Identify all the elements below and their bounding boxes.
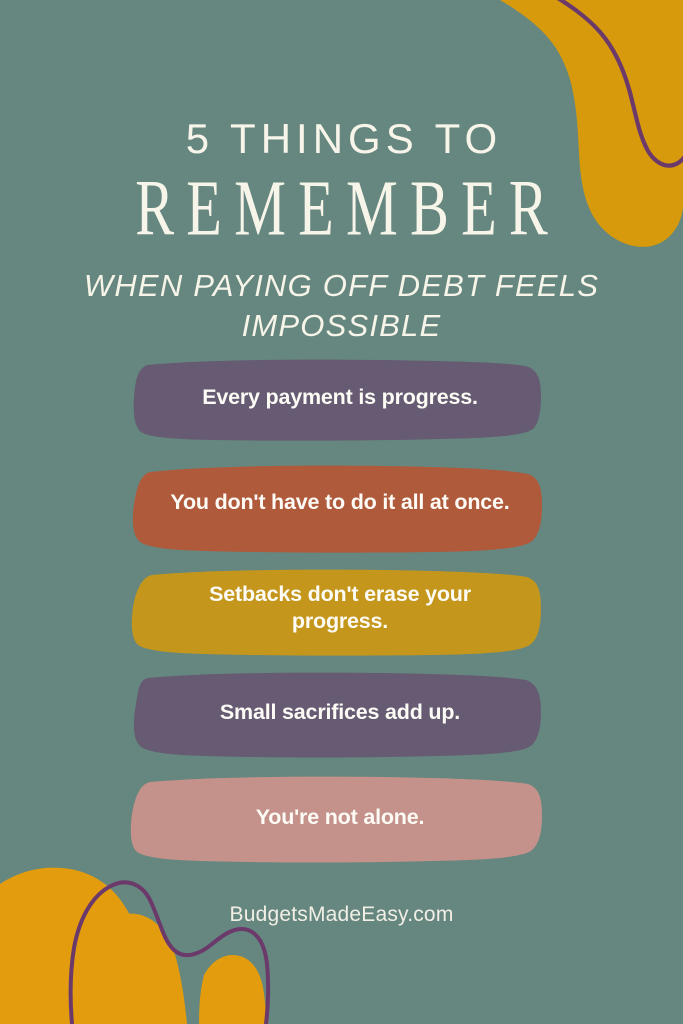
gold-blob-bottom-left-small-shape — [199, 955, 266, 1024]
list-item-label: You're not alone. — [160, 776, 520, 859]
list-item[interactable]: You're not alone. — [0, 776, 683, 881]
headline-bigword: Remember — [20, 169, 662, 248]
gold-blob-bottom-left-shape — [0, 868, 162, 1024]
list-item[interactable]: Small sacrifices add up. — [0, 671, 683, 776]
subheadline-text: When paying off debt feels impossible — [37, 266, 647, 347]
list-item[interactable]: Every payment is progress. — [0, 356, 683, 461]
list-item[interactable]: You don't have to do it all at once. — [0, 461, 683, 566]
list-item-label: Every payment is progress. — [160, 356, 520, 439]
poster-canvas: 5 Things To Remember When paying off deb… — [0, 0, 683, 1024]
list-item-label: Setbacks don't erase your progress. — [160, 566, 520, 649]
gold-blob-bottom-left-lobe-shape — [96, 914, 187, 1024]
list-item[interactable]: Setbacks don't erase your progress. — [0, 566, 683, 671]
list-item-label: You don't have to do it all at once. — [160, 461, 520, 544]
kicker-text: 5 Things To — [0, 118, 683, 160]
tips-list: Every payment is progress. You don't hav… — [0, 356, 683, 881]
headline-block: 5 Things To Remember When paying off deb… — [0, 118, 683, 347]
footer-site-url[interactable]: BudgetsMadeEasy.com — [0, 903, 683, 927]
list-item-label: Small sacrifices add up. — [160, 671, 520, 754]
